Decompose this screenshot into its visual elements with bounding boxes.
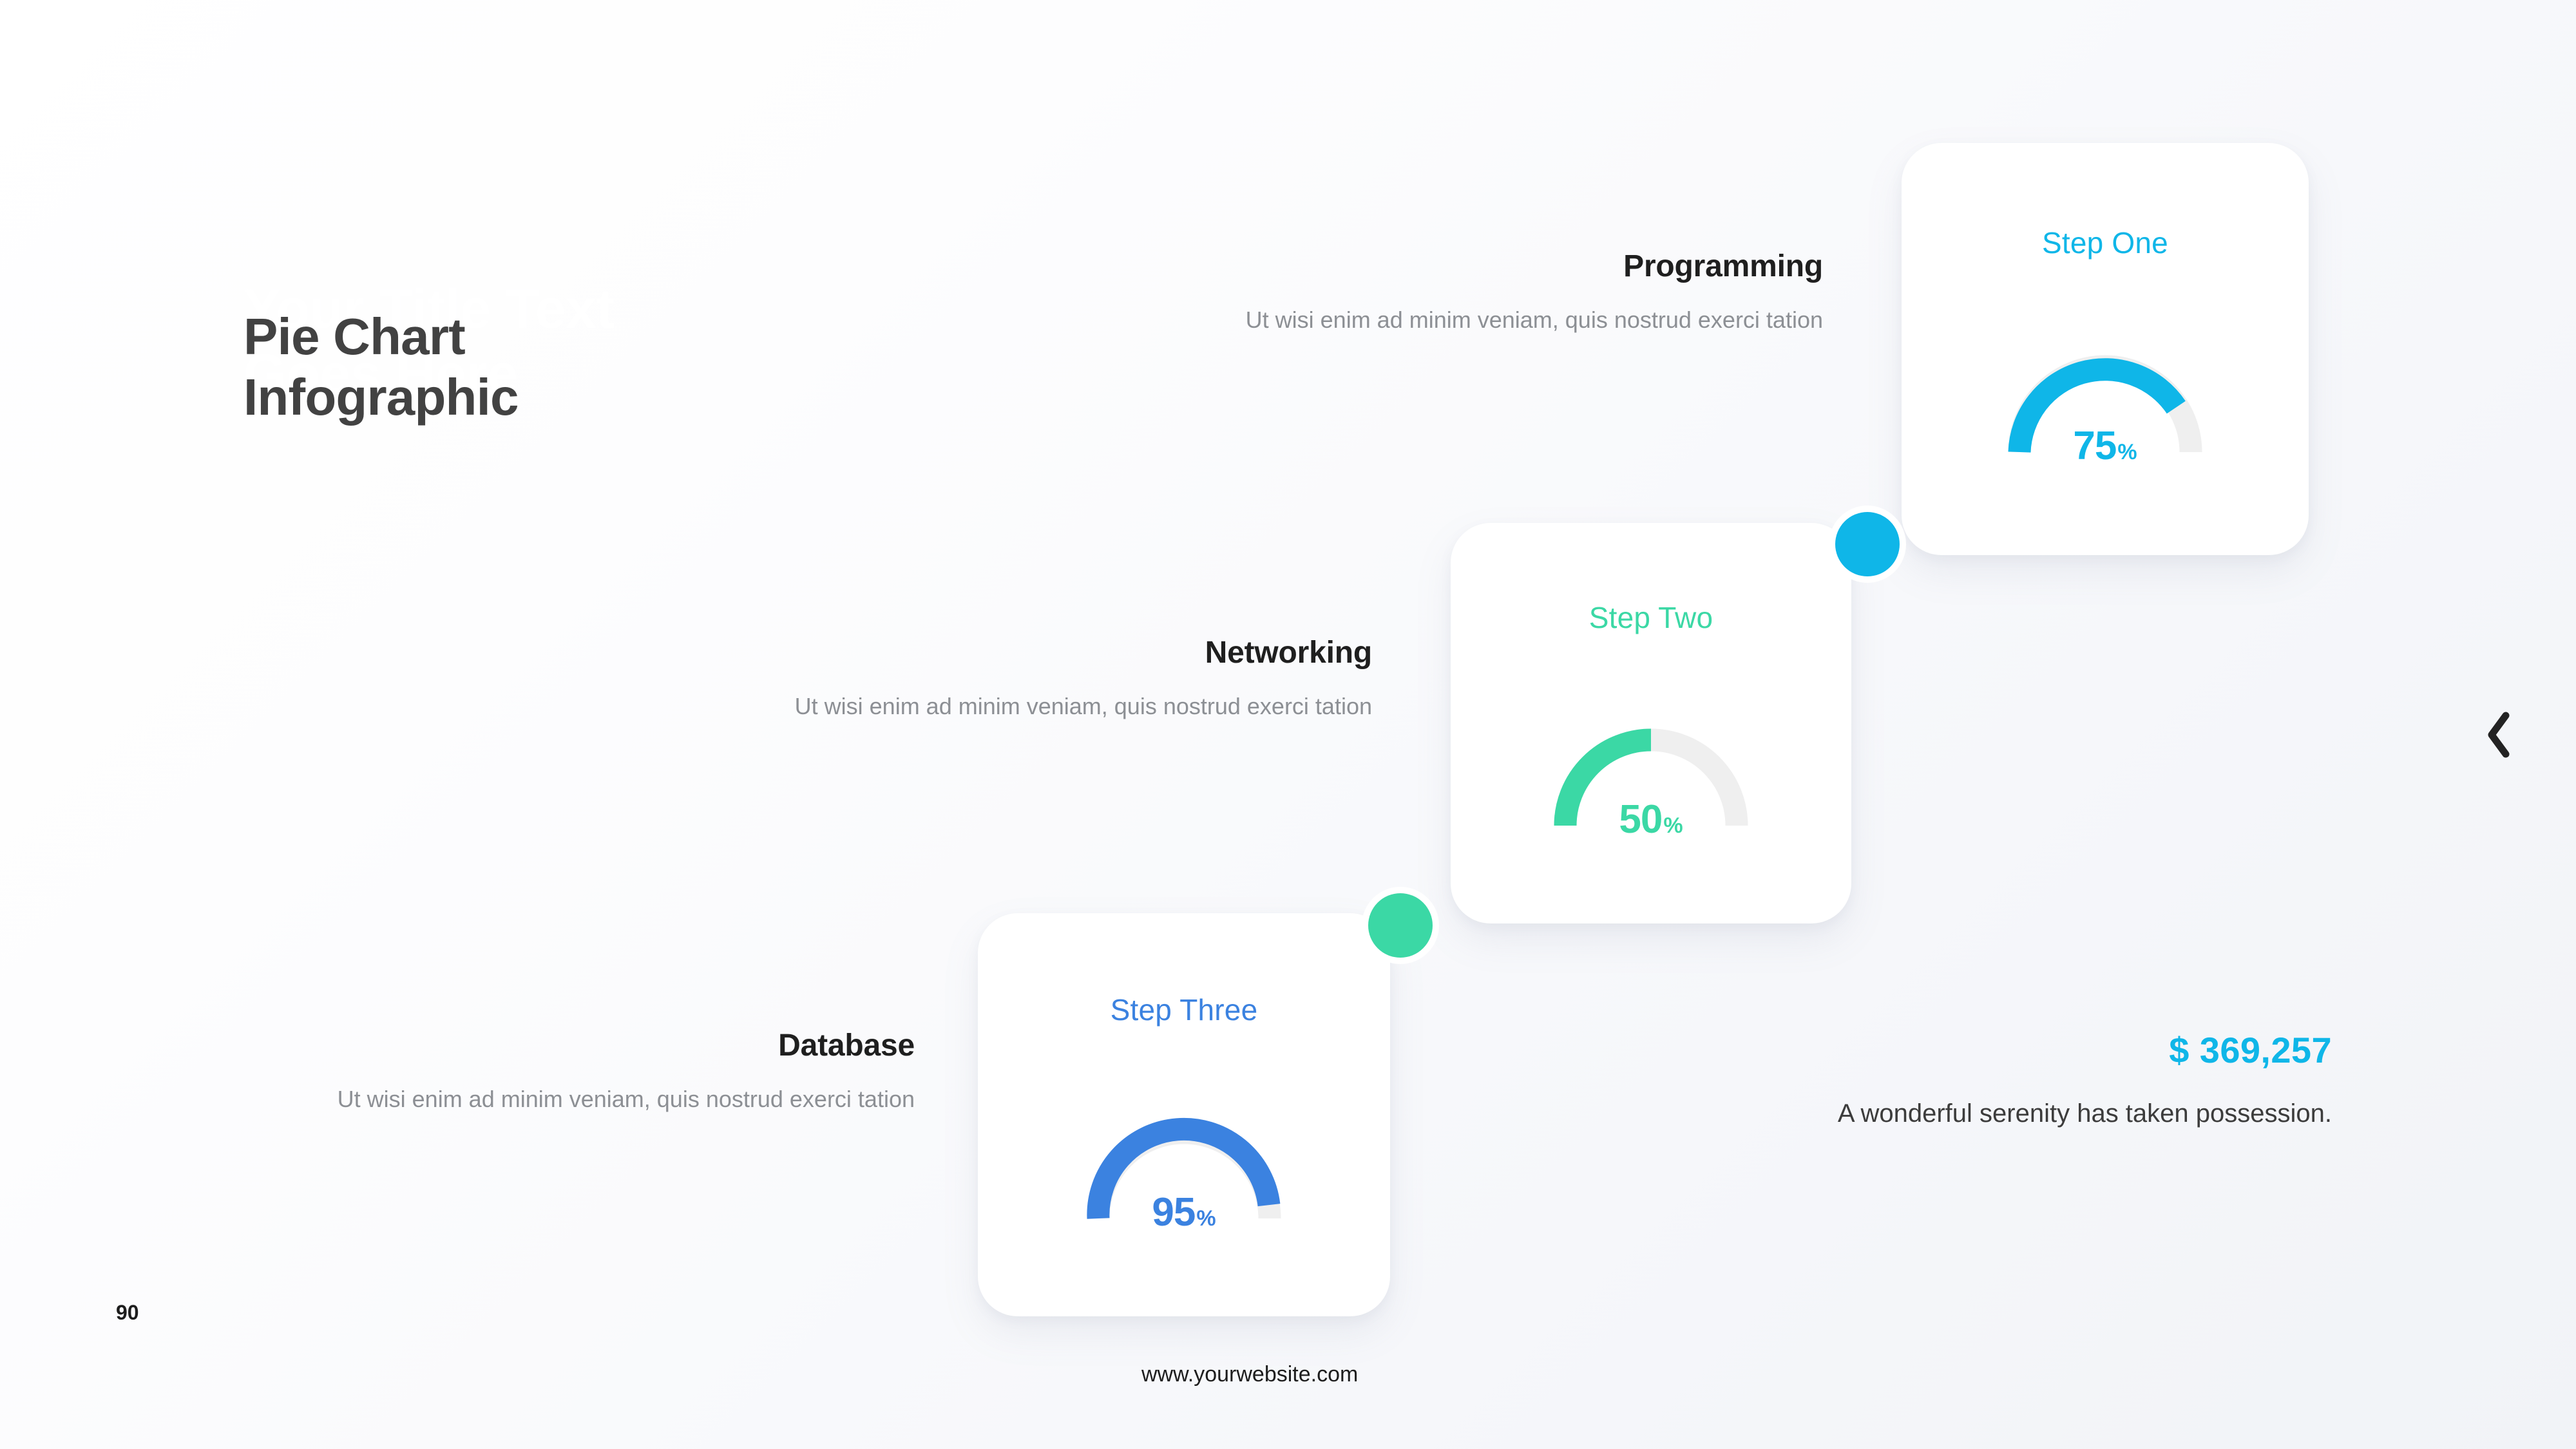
page-number: 90 — [116, 1301, 139, 1325]
step-card-step-two[interactable]: Step Two 50% — [1451, 523, 1851, 923]
stat-caption: A wonderful serenity has taken possessio… — [1688, 1094, 2332, 1133]
caption-body-database: Ut wisi enim ad minim veniam, quis nostr… — [193, 1081, 915, 1117]
caption-title-programming: Programming — [1095, 248, 1823, 285]
step-label-step-three: Step Three — [978, 992, 1390, 1027]
gauge-number-step-two: 50 — [1619, 800, 1662, 840]
gauge-unit-step-two: % — [1663, 815, 1683, 837]
gauge-step-one: 75% — [2008, 350, 2202, 464]
caption-body-programming: Ut wisi enim ad minim veniam, quis nostr… — [1095, 302, 1823, 338]
step-label-step-one: Step One — [1902, 225, 2309, 260]
gauge-number-step-three: 95 — [1152, 1193, 1195, 1233]
slide-canvas: Your Title Text Goes Here Pie Chart Info… — [0, 0, 2576, 1449]
step-card-step-three[interactable]: Step Three 95% — [978, 913, 1390, 1316]
accent-dot-cyan — [1835, 512, 1900, 576]
stat-block: $ 369,257 A wonderful serenity has taken… — [1688, 1030, 2332, 1133]
caption-block-programming: Programming Ut wisi enim ad minim veniam… — [1095, 248, 1823, 337]
title-block: Your Title Text Goes Here Pie Chart Info… — [243, 270, 1016, 554]
caption-block-networking: Networking Ut wisi enim ad minim veniam,… — [618, 634, 1372, 724]
step-card-step-one[interactable]: Step One 75% — [1902, 143, 2309, 555]
caption-title-networking: Networking — [618, 634, 1372, 672]
gauge-number-step-one: 75 — [2073, 426, 2116, 466]
step-label-step-two: Step Two — [1451, 600, 1851, 635]
caption-title-database: Database — [193, 1027, 915, 1065]
caption-block-database: Database Ut wisi enim ad minim veniam, q… — [193, 1027, 915, 1117]
gauge-step-three: 95% — [1087, 1117, 1281, 1230]
accent-dot-green — [1368, 893, 1433, 958]
chevron-left-icon[interactable] — [2477, 706, 2522, 764]
caption-body-networking: Ut wisi enim ad minim veniam, quis nostr… — [618, 688, 1372, 724]
gauge-unit-step-three: % — [1196, 1207, 1216, 1229]
gauge-step-two: 50% — [1554, 724, 1748, 837]
gauge-unit-step-one: % — [2117, 441, 2137, 463]
gauge-value-step-one: 75% — [2073, 426, 2137, 466]
site-footer: www.yourwebsite.com — [1141, 1362, 1358, 1387]
stat-amount: $ 369,257 — [1688, 1030, 2332, 1070]
gauge-value-step-three: 95% — [1152, 1193, 1216, 1233]
page-title: Pie Chart Infographic — [243, 307, 1016, 427]
gauge-value-step-two: 50% — [1619, 800, 1683, 840]
